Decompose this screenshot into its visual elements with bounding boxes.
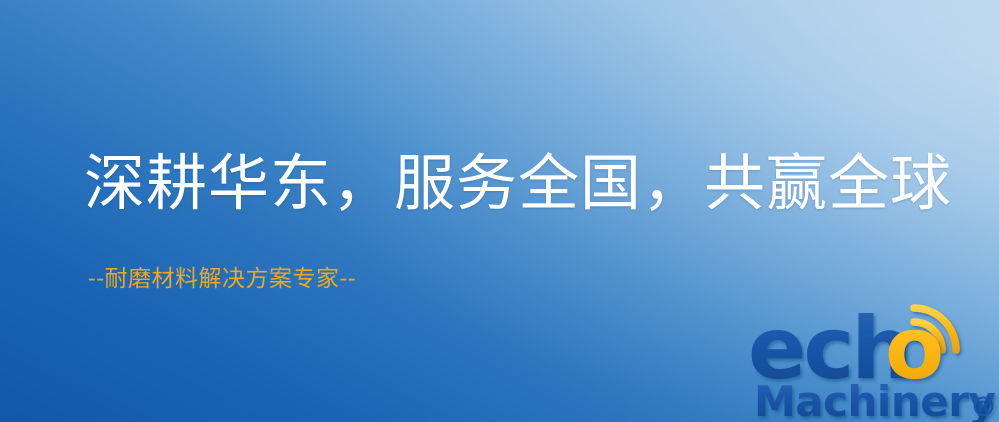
registered-trademark-icon: ®	[970, 392, 997, 422]
banner-subtitle: --耐磨材料解决方案专家--	[88, 266, 356, 294]
logo-tagline: Machinery	[754, 377, 995, 422]
promo-banner: 深耕华东，服务全国，共赢全球 --耐磨材料解决方案专家--	[0, 0, 999, 422]
echo-machinery-logo: ech o Machinery ®	[748, 292, 999, 422]
banner-headline: 深耕华东，服务全国，共赢全球	[84, 150, 952, 218]
